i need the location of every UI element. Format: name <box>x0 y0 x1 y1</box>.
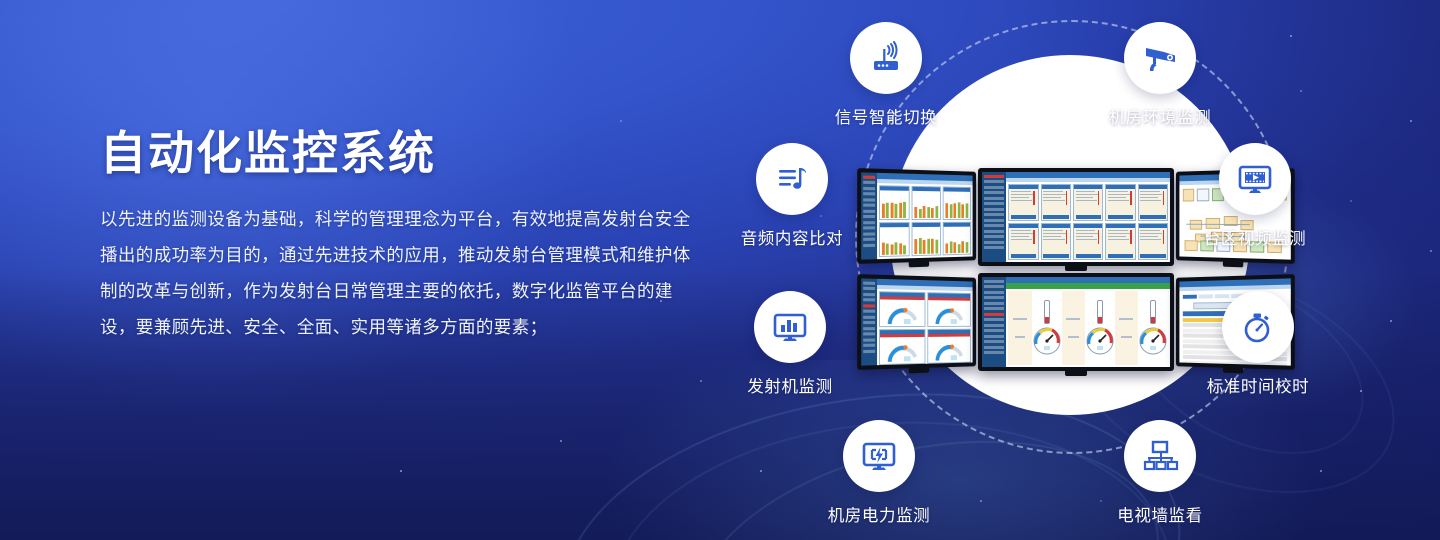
monitor-bar-chart-icon[interactable] <box>754 291 826 363</box>
gauge-dial-cell <box>1085 291 1115 365</box>
cctv-camera-icon[interactable] <box>1124 22 1196 94</box>
bar-chart-card <box>943 186 971 219</box>
gauge-label-cell <box>1062 291 1085 365</box>
screen-arc-gauges <box>877 289 973 365</box>
feature-label: 标准时间校时 <box>1178 373 1338 397</box>
status-card <box>1105 223 1135 260</box>
feature-audio-compare[interactable]: 音频内容比对 <box>712 143 872 249</box>
status-card <box>1008 184 1038 221</box>
feature-room-environment[interactable]: 机房环境监测 <box>1080 22 1240 128</box>
monitor-film-play-icon[interactable] <box>1219 143 1291 215</box>
feature-area-video[interactable]: 台区视频监测 <box>1175 143 1335 249</box>
gauge-dial-cell <box>1032 291 1062 365</box>
feature-time-sync[interactable]: 标准时间校时 <box>1178 291 1338 397</box>
sitemap-hierarchy-icon[interactable] <box>1124 420 1196 492</box>
status-card <box>1008 223 1038 260</box>
gauge-label-cell <box>1008 291 1031 365</box>
feature-room-power[interactable]: 机房电力监测 <box>799 420 959 526</box>
page-title: 自动化监控系统 <box>100 128 700 179</box>
monitor-stand <box>1223 262 1243 268</box>
monitor-top-left[interactable] <box>857 168 976 264</box>
monitor-stand <box>909 368 929 374</box>
router-wifi-icon[interactable] <box>850 22 922 94</box>
screen-bar-charts <box>877 183 973 259</box>
status-card <box>1138 184 1168 221</box>
monitor-stand <box>1065 371 1087 376</box>
screen-status-cards <box>1006 182 1170 262</box>
feature-signal-switch[interactable]: 信号智能切换 <box>806 22 966 128</box>
gauge-label-cell <box>1115 291 1138 365</box>
music-note-lines-icon[interactable] <box>756 143 828 215</box>
feature-label: 信号智能切换 <box>806 104 966 128</box>
arc-gauge-card <box>879 329 926 365</box>
arc-gauge-card <box>879 291 926 327</box>
feature-label: 机房电力监测 <box>799 502 959 526</box>
feature-video-wall[interactable]: 电视墙监看 <box>1080 420 1240 526</box>
bar-chart-card <box>879 222 910 257</box>
feature-label: 机房环境监测 <box>1080 104 1240 128</box>
status-card <box>1073 223 1103 260</box>
feature-label: 台区视频监测 <box>1175 225 1335 249</box>
screen-dial-gauges <box>1006 289 1170 367</box>
status-card <box>1138 223 1168 260</box>
bar-chart-card <box>943 222 971 256</box>
gauge-dial-cell <box>1138 291 1168 365</box>
monitor-bottom-center[interactable] <box>978 273 1174 371</box>
bar-chart-card <box>879 185 910 220</box>
feature-label: 音频内容比对 <box>712 225 872 249</box>
monitor-stand <box>909 262 929 268</box>
arc-gauge-card <box>927 292 971 327</box>
status-card <box>1073 184 1103 221</box>
bar-chart-card <box>911 186 941 220</box>
bar-chart-card <box>911 222 941 256</box>
status-card <box>1041 184 1071 221</box>
monitor-bottom-left[interactable] <box>857 274 976 370</box>
arc-gauge-card <box>927 329 971 364</box>
screen-sidebar <box>982 277 1006 367</box>
hero-banner: 自动化监控系统 以先进的监测设备为基础，科学的管理理念为平台，有效地提高发射台安… <box>0 0 1440 540</box>
monitor-top-center[interactable] <box>978 168 1174 266</box>
feature-transmitter-monitor[interactable]: 发射机监测 <box>710 291 870 397</box>
monitor-battery-bolt-icon[interactable] <box>843 420 915 492</box>
stopwatch-icon[interactable] <box>1222 291 1294 363</box>
feature-cluster: 信号智能切换 机房环境监测 <box>700 0 1440 540</box>
status-card <box>1105 184 1135 221</box>
hero-copy: 自动化监控系统 以先进的监测设备为基础，科学的管理理念为平台，有效地提高发射台安… <box>100 128 700 345</box>
screen-sidebar <box>982 172 1006 262</box>
monitor-stand <box>1065 266 1087 271</box>
feature-label: 发射机监测 <box>710 373 870 397</box>
page-description: 以先进的监测设备为基础，科学的管理理念为平台，有效地提高发射台安全播出的成功率为… <box>100 201 700 345</box>
feature-label: 电视墙监看 <box>1080 502 1240 526</box>
status-card <box>1041 223 1071 260</box>
